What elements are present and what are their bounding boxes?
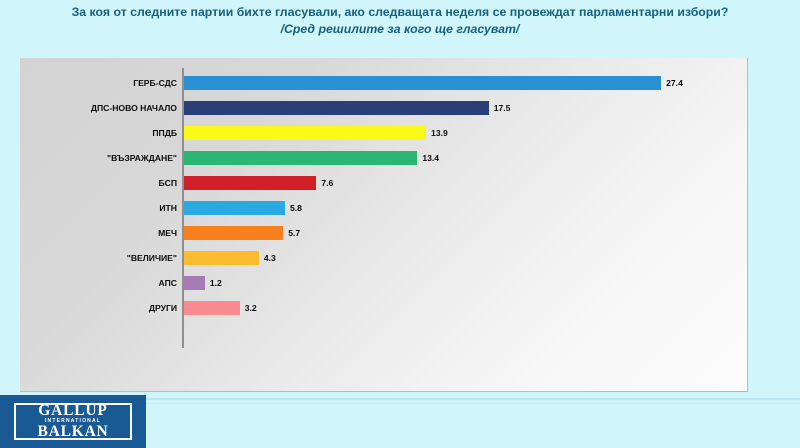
chart-bar[interactable] xyxy=(184,126,426,140)
chart-category-label: БСП xyxy=(159,176,177,190)
chart-value-label: 27.4 xyxy=(666,76,683,90)
logo-balkan-text: BALKAN xyxy=(37,425,108,439)
chart-value-label: 5.8 xyxy=(290,201,302,215)
chart-bar-row: ДПС-НОВО НАЧАЛО17.5 xyxy=(20,101,748,126)
slide-title-block: За коя от следните партии бихте гласувал… xyxy=(0,4,800,38)
chart-bar-row: "ВЕЛИЧИЕ"4.3 xyxy=(20,251,748,276)
chart-bar[interactable] xyxy=(184,151,417,165)
chart-bar[interactable] xyxy=(184,226,283,240)
chart-value-label: 5.7 xyxy=(288,226,300,240)
chart-bar-row: ППДБ13.9 xyxy=(20,126,748,151)
chart-bar[interactable] xyxy=(184,76,661,90)
logo-gallup-text: GALLUP xyxy=(38,404,107,418)
chart-bar[interactable] xyxy=(184,251,259,265)
chart-bar[interactable] xyxy=(184,276,205,290)
chart-bar[interactable] xyxy=(184,176,316,190)
chart-value-label: 3.2 xyxy=(245,301,257,315)
chart-bar[interactable] xyxy=(184,301,240,315)
chart-bar-row: БСП7.6 xyxy=(20,176,748,201)
logo-frame: GALLUP INTERNATIONAL BALKAN xyxy=(14,403,132,440)
chart-bar-row: АПС1.2 xyxy=(20,276,748,301)
chart-value-label: 1.2 xyxy=(210,276,222,290)
chart-category-label: МЕЧ xyxy=(158,226,177,240)
chart-bar-row: ДРУГИ3.2 xyxy=(20,301,748,326)
chart-bar-row: ГЕРБ-СДС27.4 xyxy=(20,76,748,101)
chart-value-label: 7.6 xyxy=(321,176,333,190)
chart-bar-row: "ВЪЗРАЖДАНЕ"13.4 xyxy=(20,151,748,176)
slide-canvas: За коя от следните партии бихте гласувал… xyxy=(0,0,800,448)
chart-category-label: ДПС-НОВО НАЧАЛО xyxy=(91,101,177,115)
chart-category-label: ППДБ xyxy=(152,126,177,140)
chart-category-label: АПС xyxy=(159,276,177,290)
chart-bar-row: ИТН5.8 xyxy=(20,201,748,226)
chart-plot-area: ГЕРБ-СДС27.4ДПС-НОВО НАЧАЛО17.5ППДБ13.9"… xyxy=(20,58,748,392)
chart-category-label: "ВЕЛИЧИЕ" xyxy=(127,251,177,265)
chart-value-label: 17.5 xyxy=(494,101,511,115)
chart-panel: ГЕРБ-СДС27.4ДПС-НОВО НАЧАЛО17.5ППДБ13.9"… xyxy=(20,58,748,392)
chart-value-label: 13.9 xyxy=(431,126,448,140)
chart-bar[interactable] xyxy=(184,201,285,215)
chart-category-label: ДРУГИ xyxy=(149,301,177,315)
chart-value-label: 4.3 xyxy=(264,251,276,265)
page-subtitle: /Сред решилите за кого ще гласуват/ xyxy=(0,21,800,38)
chart-bar-row: МЕЧ5.7 xyxy=(20,226,748,251)
chart-category-label: "ВЪЗРАЖДАНЕ" xyxy=(107,151,177,165)
chart-category-label: ГЕРБ-СДС xyxy=(133,76,177,90)
gallup-logo: GALLUP INTERNATIONAL BALKAN xyxy=(0,395,146,448)
chart-bar[interactable] xyxy=(184,101,489,115)
page-title: За коя от следните партии бихте гласувал… xyxy=(0,4,800,21)
chart-value-label: 13.4 xyxy=(422,151,439,165)
chart-category-label: ИТН xyxy=(159,201,177,215)
